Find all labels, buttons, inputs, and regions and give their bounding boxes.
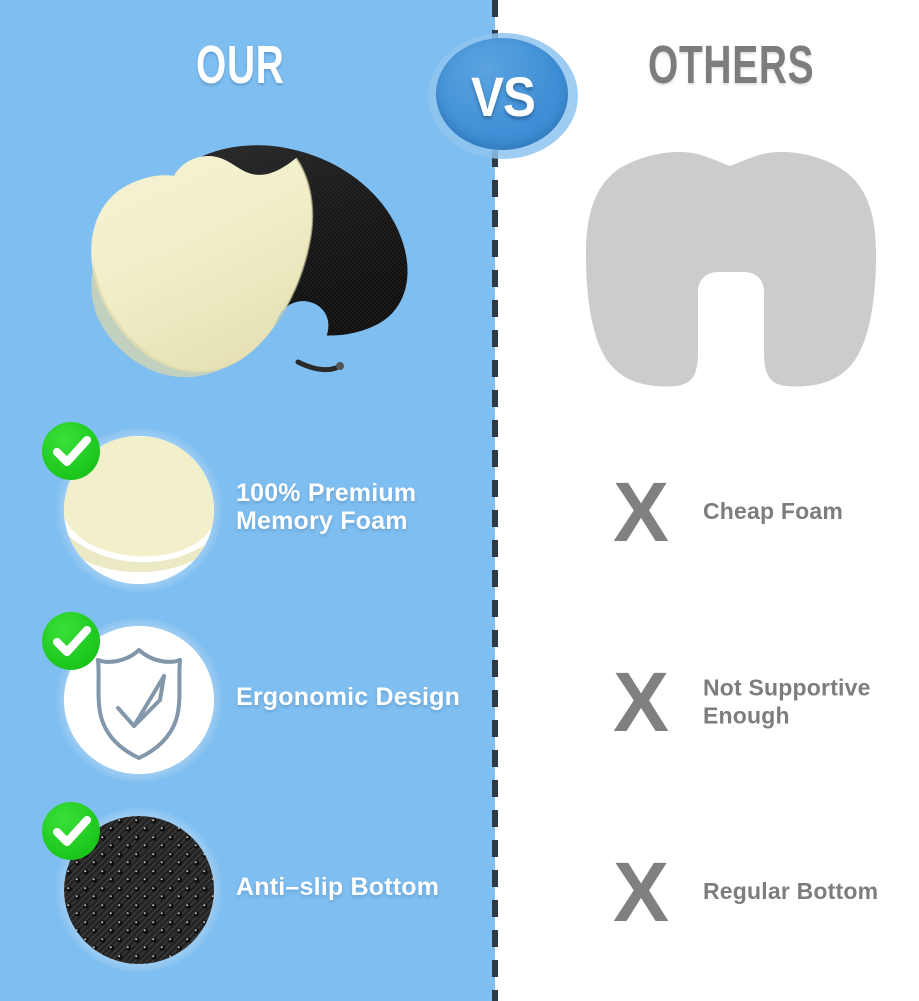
feature-row-ergonomic-design: Ergonomic Design: [38, 612, 488, 782]
other-label: Cheap Foam: [703, 498, 919, 526]
feature-label-line: Memory Foam: [236, 507, 488, 535]
check-circle-icon: [42, 612, 100, 670]
other-row-not-supportive-enough: X Not Supportive Enough: [595, 642, 919, 762]
other-label: Not Supportive Enough: [703, 674, 919, 729]
feature-label: Anti–slip Bottom: [236, 873, 488, 901]
comparison-infographic: OUR OTHERS VS 100% Premium Memory Foam: [0, 0, 919, 1001]
feature-row-premium-memory-foam: 100% Premium Memory Foam: [38, 422, 488, 592]
other-label: Regular Bottom: [703, 878, 919, 906]
other-row-regular-bottom: X Regular Bottom: [595, 832, 919, 952]
feature-label-line: 100% Premium: [236, 479, 488, 507]
x-mark-icon: X: [595, 660, 687, 744]
others-product-image: [578, 146, 883, 392]
our-product-image: [48, 112, 458, 402]
other-label-line: Regular Bottom: [703, 878, 919, 906]
x-mark-icon: X: [595, 850, 687, 934]
feature-label: Ergonomic Design: [236, 683, 488, 711]
other-label-line: Enough: [703, 702, 919, 730]
feature-row-anti-slip-bottom: Anti–slip Bottom: [38, 802, 488, 972]
our-title: OUR: [196, 38, 285, 92]
x-mark-icon: X: [595, 470, 687, 554]
vs-badge-label: VS: [437, 33, 569, 159]
feature-label-line: Anti–slip Bottom: [236, 873, 488, 901]
others-title: OTHERS: [648, 38, 814, 92]
vs-badge: VS: [428, 33, 578, 159]
other-label-line: Not Supportive: [703, 674, 919, 702]
check-circle-icon: [42, 422, 100, 480]
other-row-cheap-foam: X Cheap Foam: [595, 452, 919, 572]
feature-label: 100% Premium Memory Foam: [236, 479, 488, 535]
feature-label-line: Ergonomic Design: [236, 683, 488, 711]
check-circle-icon: [42, 802, 100, 860]
other-label-line: Cheap Foam: [703, 498, 919, 526]
